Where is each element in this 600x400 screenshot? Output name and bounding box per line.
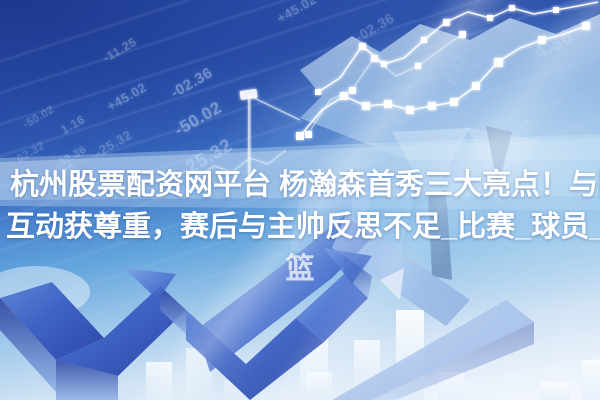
headline-line-3: 篮 [4, 248, 596, 290]
headline-line-2: 互动获尊重，赛后与主帅反思不足_比赛_球员_投篮 [4, 206, 596, 248]
banner-image: -02.36 -11.25 +45.02 4.36 -02.36 -50.02 … [0, 0, 600, 400]
headline-block: 杭州股票配资网平台 杨瀚森首秀三大亮点！与队友 互动获尊重，赛后与主帅反思不足_… [0, 164, 600, 290]
headline-line-1: 杭州股票配资网平台 杨瀚森首秀三大亮点！与队友 [4, 164, 596, 206]
